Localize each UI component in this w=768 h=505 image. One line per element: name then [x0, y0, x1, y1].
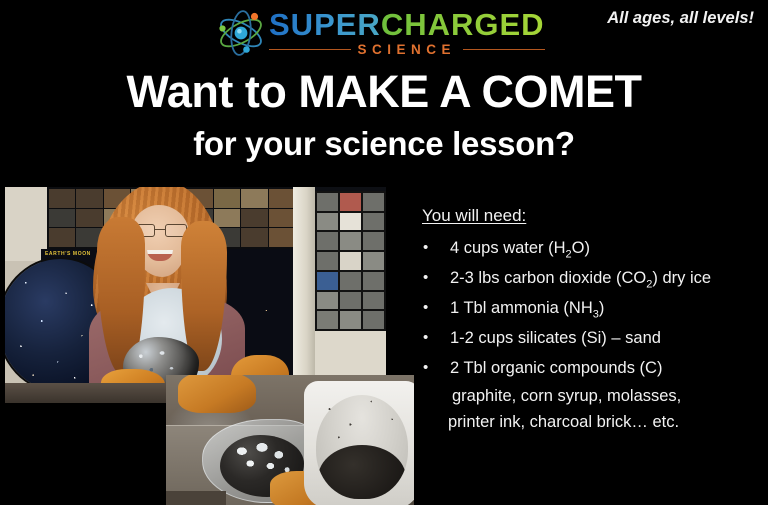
bullet-icon: • — [420, 233, 450, 263]
atom-icon — [215, 8, 267, 58]
logo-main-text: SUPERCHARGED — [269, 9, 545, 41]
bullet-icon: • — [420, 323, 450, 353]
logo-wordmark: SUPERCHARGED SCIENCE — [269, 9, 545, 57]
list-item-text: 4 cups water (H — [450, 239, 566, 257]
list-item-text-tail: O) — [572, 239, 590, 257]
logo-word-science: SCIENCE — [358, 42, 457, 57]
inset-bottom-edge — [166, 491, 226, 505]
logo-rule-right — [463, 49, 545, 50]
list-item-text: 1 Tbl ammonia (NH — [450, 299, 593, 317]
slide-canvas: SUPERCHARGED SCIENCE All ages, all level… — [0, 0, 768, 505]
orange-glove-top — [178, 375, 256, 413]
tagline: All ages, all levels! — [607, 9, 754, 28]
bucket-specks — [304, 381, 414, 505]
supercharged-science-logo[interactable]: SUPERCHARGED SCIENCE — [215, 4, 560, 62]
materials-list-heading: You will need: — [420, 206, 760, 226]
list-item-label: 1 Tbl ammonia (NH3) — [450, 293, 604, 323]
list-item-text-tail: ) — [599, 299, 605, 317]
list-item: • 1-2 cups silicates (Si) – sand — [420, 323, 760, 353]
list-item-text-tail: ) dry ice — [652, 269, 711, 287]
list-item: • 4 cups water (H2O) — [420, 233, 760, 263]
list-item: • 2-3 lbs carbon dioxide (CO2) dry ice — [420, 263, 760, 293]
list-item-label: 4 cups water (H2O) — [450, 233, 590, 263]
poster-label-earths-moon: EARTH'S MOON — [45, 251, 91, 257]
logo-subtitle-row: SCIENCE — [269, 42, 545, 57]
materials-list: You will need: • 4 cups water (H2O) • 2-… — [420, 206, 760, 435]
logo-word-super: SUPER — [269, 7, 381, 42]
list-item-continuation: graphite, corn syrup, molasses, — [420, 383, 760, 409]
list-item-label: 2-3 lbs carbon dioxide (CO2) dry ice — [450, 263, 711, 293]
logo-word-charged: CHARGED — [381, 7, 545, 42]
white-bucket — [304, 381, 414, 505]
page-title: Want to MAKE A COMET — [0, 69, 768, 114]
list-item-continuation: printer ink, charcoal brick… etc. — [420, 409, 760, 435]
logo-rule-left — [269, 49, 351, 50]
list-item: • 1 Tbl ammonia (NH3) — [420, 293, 760, 323]
page-subtitle: for your science lesson? — [0, 127, 768, 160]
list-item: • 2 Tbl organic compounds (C) — [420, 353, 760, 383]
list-item-label: 1-2 cups silicates (Si) – sand — [450, 323, 661, 353]
list-item-text: 2-3 lbs carbon dioxide (CO — [450, 269, 646, 287]
photo-comet-mixture-inset — [166, 375, 414, 505]
bullet-icon: • — [420, 263, 450, 293]
door-frame — [293, 187, 315, 403]
bullet-icon: • — [420, 353, 450, 383]
bullet-icon: • — [420, 293, 450, 323]
list-item-label: 2 Tbl organic compounds (C) — [450, 353, 662, 383]
photo-woman-holding-comet: EARTH'S MOON — [5, 187, 386, 403]
mineral-chart-poster — [315, 191, 386, 331]
